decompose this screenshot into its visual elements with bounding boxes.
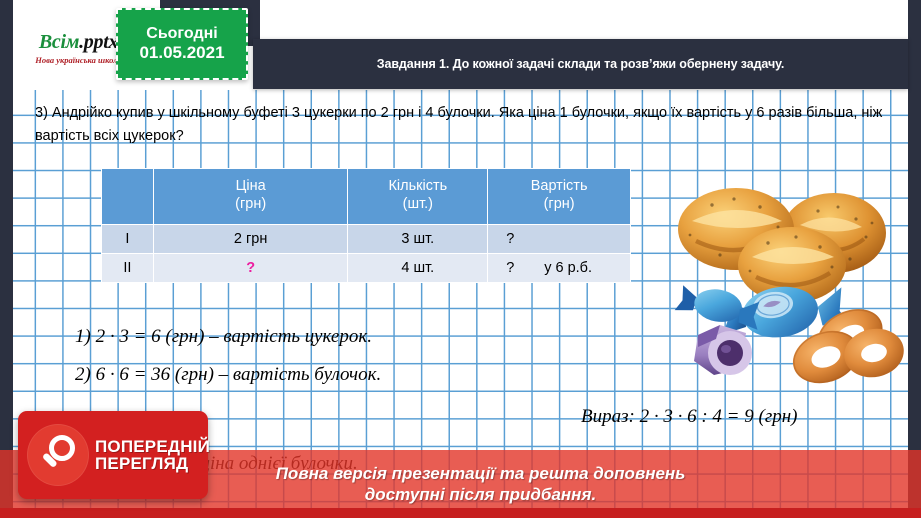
table-header-count-title: Кількість	[388, 178, 447, 194]
solution-block: 1) 2 · 3 = 6 (грн) – вартість цукерок. 2…	[75, 318, 635, 394]
today-badge-date: 01.05.2021	[139, 43, 224, 63]
purchase-notice-line2: доступні після придбання.	[276, 484, 686, 505]
row1-label: I	[102, 225, 154, 254]
today-badge-label: Сьогодні	[146, 25, 217, 43]
row2-cost-note: у 6 р.б.	[544, 260, 592, 276]
table-header-price: Ціна (грн)	[153, 169, 348, 225]
table-header-count: Кількість (шт.)	[348, 169, 488, 225]
task-table: Ціна (грн) Кількість (шт.) Вартість (грн…	[101, 168, 631, 283]
row1-cost-value: ?	[506, 231, 514, 247]
row1-count: 3 шт.	[348, 225, 488, 254]
brand-logo-title-green: Всім	[39, 31, 79, 53]
pastries-and-candies-image	[668, 185, 908, 390]
table-row: I 2 грн 3 шт. ?	[102, 225, 631, 254]
table-header-cost-title: Вартість	[531, 178, 588, 194]
table-header-cost: Вартість (грн)	[488, 169, 631, 225]
preview-popup[interactable]: ПОПЕРЕДНІЙ ПЕРЕГЛЯД	[18, 411, 208, 499]
preview-popup-text: ПОПЕРЕДНІЙ ПЕРЕГЛЯД	[95, 438, 210, 472]
table-header-count-unit: (шт.)	[350, 196, 485, 213]
purchase-notice-text: Повна версія презентації та решта доповн…	[236, 463, 686, 506]
magnifier-icon	[27, 424, 89, 486]
task-table-head: Ціна (грн) Кількість (шт.) Вартість (грн…	[102, 169, 631, 225]
task-title-banner: Завдання 1. До кожної задачі склади та р…	[253, 39, 908, 89]
row2-price: ?	[153, 254, 348, 283]
problem-statement: 3) Андрійко купив у шкільному буфеті 3 ц…	[35, 102, 890, 149]
row1-cost: ?	[488, 225, 631, 254]
bottom-red-bar	[0, 508, 921, 518]
solution-expression: Вираз: 2 · 3 · 6 : 4 = 9 (грн)	[581, 406, 798, 428]
row2-label: II	[102, 254, 154, 283]
today-badge: Сьогодні 01.05.2021	[116, 8, 248, 80]
solution-line-2: 2) 6 · 6 = 36 (грн) – вартість булочок.	[75, 356, 635, 394]
preview-popup-line1: ПОПЕРЕДНІЙ	[95, 438, 210, 455]
row2-cost: ? у 6 р.б.	[488, 254, 631, 283]
task-title-text: Завдання 1. До кожної задачі склади та р…	[377, 57, 785, 71]
solution-line-1: 1) 2 · 3 = 6 (грн) – вартість цукерок.	[75, 318, 635, 356]
table-row: II ? 4 шт. ? у 6 р.б.	[102, 254, 631, 283]
table-header-corner	[102, 169, 154, 225]
frame-left-band	[0, 0, 13, 518]
task-table-header-row: Ціна (грн) Кількість (шт.) Вартість (грн…	[102, 169, 631, 225]
row2-cost-value: ?	[506, 260, 514, 276]
table-header-price-unit: (грн)	[156, 196, 346, 213]
purchase-notice-line1: Повна версія презентації та решта доповн…	[276, 463, 686, 484]
task-table-body: I 2 грн 3 шт. ? II ? 4 шт. ? у 6 р.б.	[102, 225, 631, 283]
table-header-price-title: Ціна	[236, 178, 266, 194]
preview-popup-line2: ПЕРЕГЛЯД	[95, 455, 210, 472]
table-header-cost-unit: (грн)	[490, 196, 628, 213]
row2-count: 4 шт.	[348, 254, 488, 283]
slide-root: Всім.pptx Нова українська школа Сьогодні…	[0, 0, 921, 518]
brand-logo-title-black: .pptx	[79, 31, 118, 53]
frame-right-band	[908, 0, 921, 518]
row2-price-unknown: ?	[246, 260, 255, 276]
row1-price: 2 грн	[153, 225, 348, 254]
